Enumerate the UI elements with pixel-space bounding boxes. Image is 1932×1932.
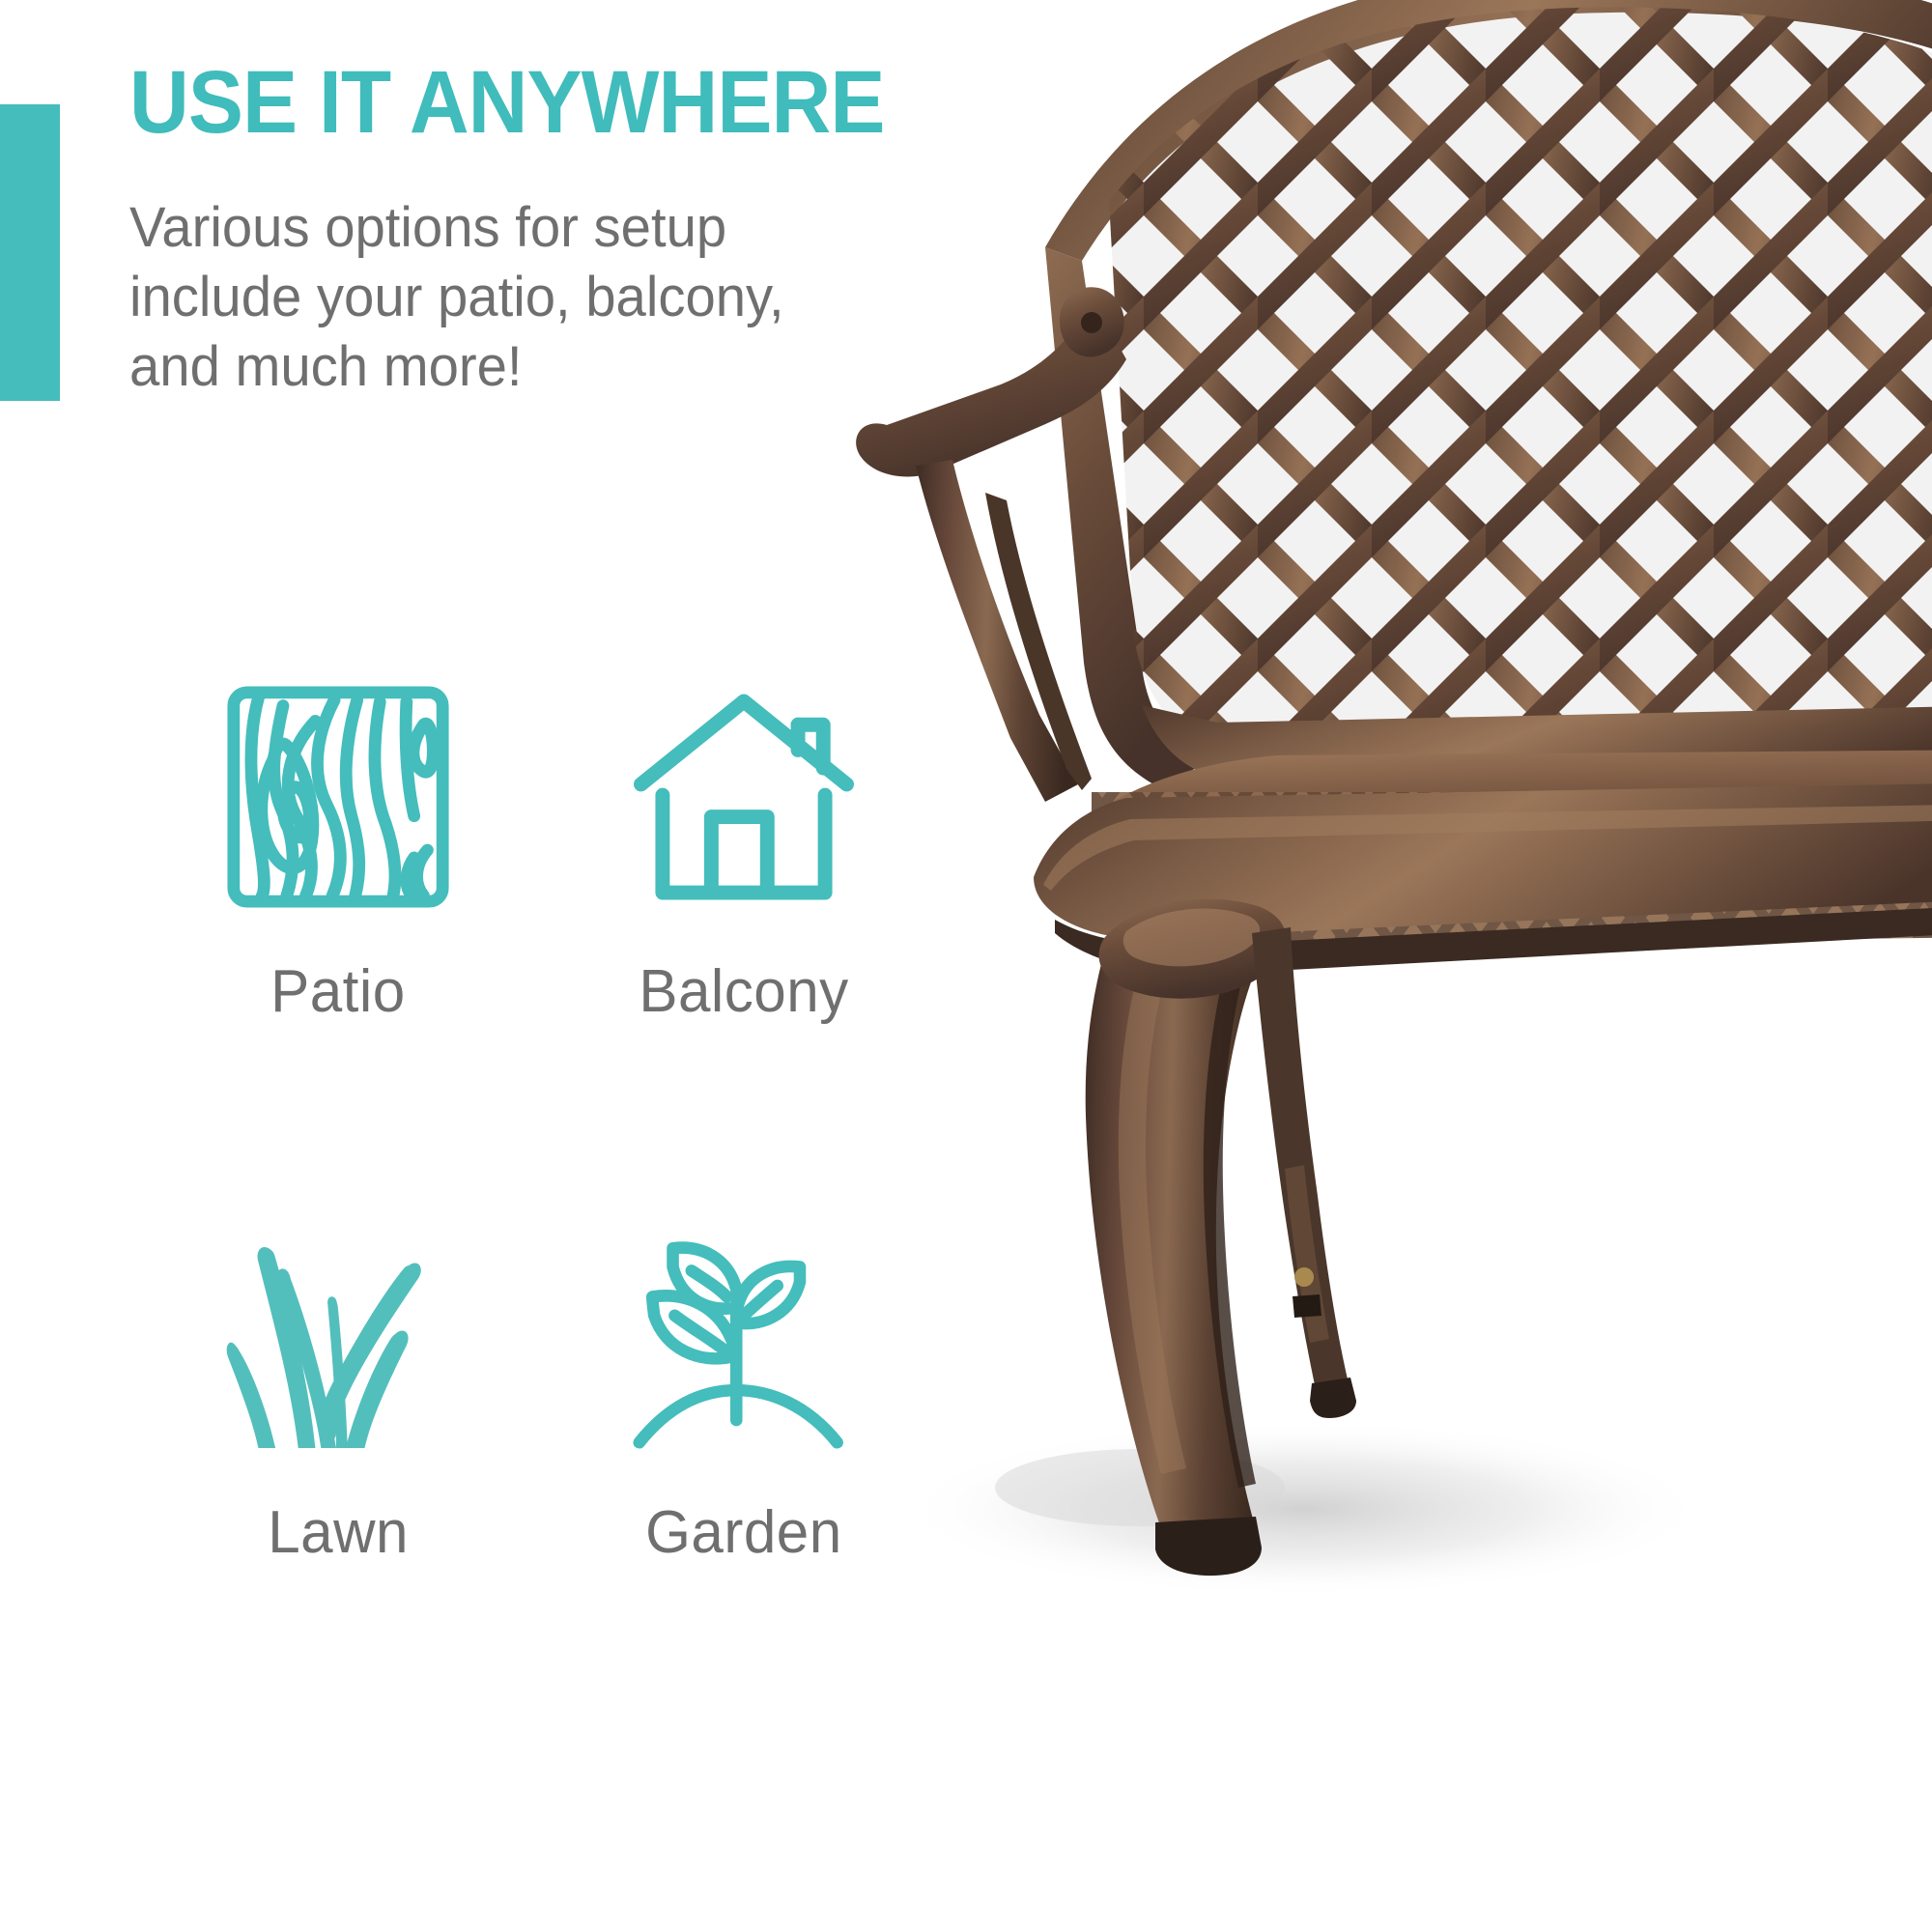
feature-label: Lawn	[268, 1501, 409, 1565]
accent-bar	[0, 104, 60, 401]
chair-foot-glide	[1155, 1517, 1262, 1576]
subtitle-line-1: Various options for setup	[129, 193, 861, 263]
subtitle-line-3: and much more!	[129, 332, 861, 402]
wood-plank-icon	[213, 676, 464, 918]
product-photo	[802, 0, 1932, 1932]
subtitle-line-2: include your patio, balcony,	[129, 263, 861, 332]
grass-icon	[213, 1217, 464, 1459]
page-subtitle: Various options for setup include your p…	[129, 193, 861, 402]
feature-item-lawn: Lawn	[145, 1217, 531, 1719]
chair-rear-leg	[1252, 927, 1349, 1389]
feature-label: Patio	[270, 960, 406, 1024]
feature-item-patio: Patio	[145, 676, 531, 1179]
infographic-page: USE IT ANYWHERE Various options for setu…	[0, 0, 1932, 1932]
